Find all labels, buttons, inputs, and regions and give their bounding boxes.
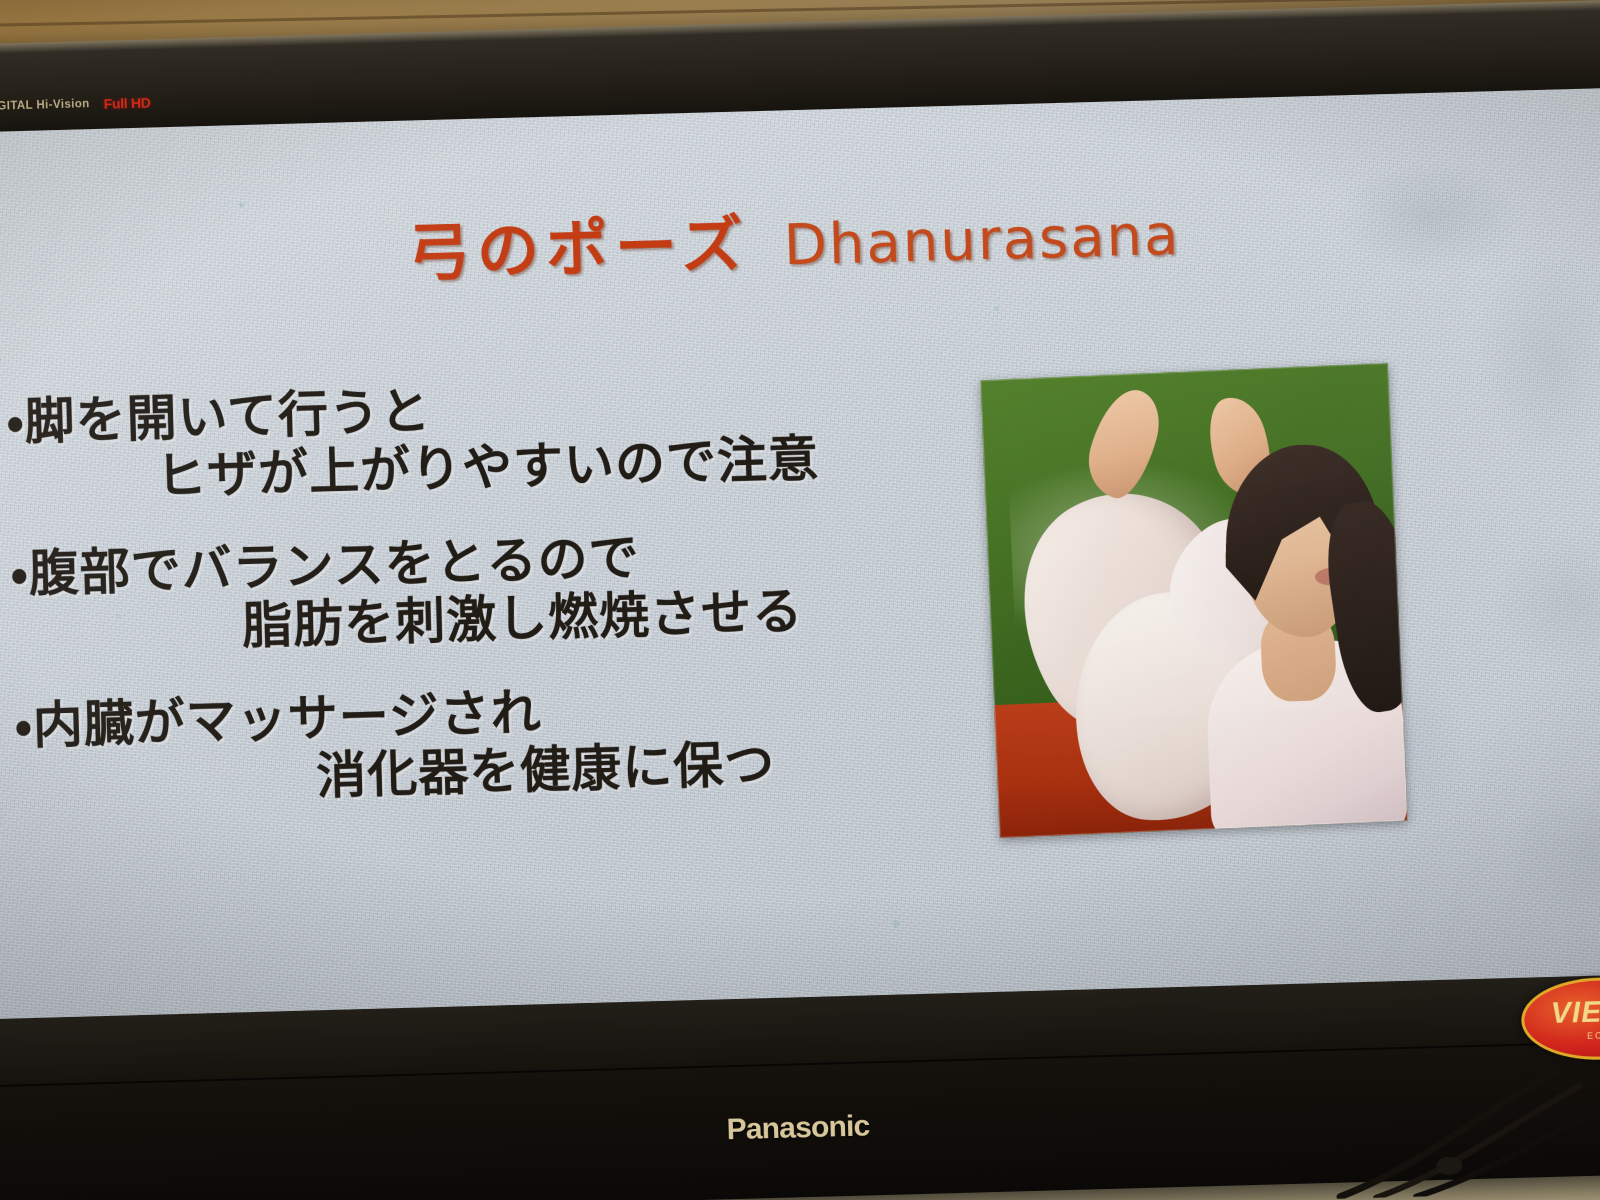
viera-sticker-label: VIERA (1550, 996, 1600, 1029)
screen-vignette (0, 88, 1600, 1020)
viera-sticker-sublabel: ECO (1587, 1030, 1600, 1041)
digital-hi-vision-label: DIGITAL Hi-Vision (0, 98, 90, 113)
television: DIGITAL Hi-Vision Full HD 弓のポーズDhanurasa… (0, 0, 1600, 1200)
photographed-scene: DIGITAL Hi-Vision Full HD 弓のポーズDhanurasa… (0, 0, 1600, 1200)
tv-screen: 弓のポーズDhanurasana ・脚を開いて行うと ヒザが上がりやすいので注意… (0, 88, 1600, 1020)
full-hd-label: Full HD (103, 94, 150, 111)
